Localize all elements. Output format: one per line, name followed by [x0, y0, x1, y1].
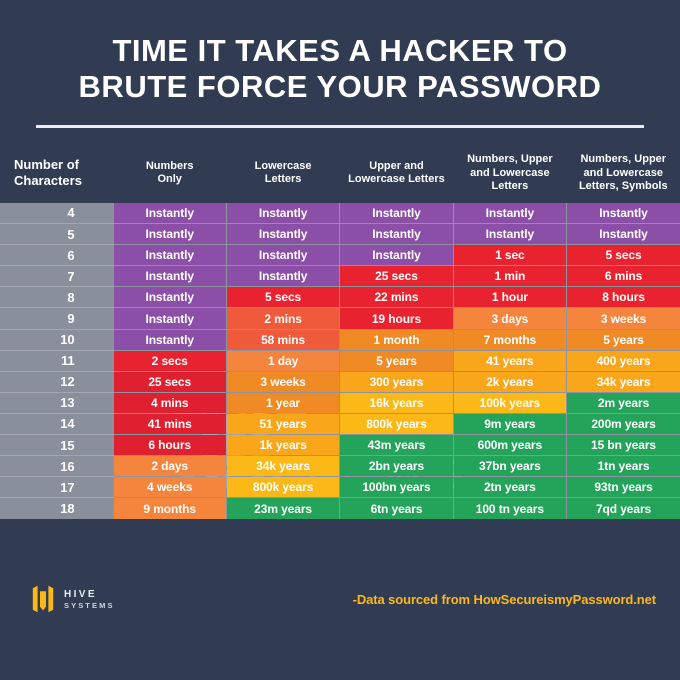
column-header-3: Upper andLowercase Letters [340, 150, 453, 203]
column-header-2: LowercaseLetters [226, 150, 339, 203]
crack-time-cell: 800k years [340, 413, 453, 434]
row-character-count: 5 [0, 224, 113, 245]
row-character-count: 14 [0, 413, 113, 434]
crack-time-cell: 2k years [453, 371, 566, 392]
column-header-5: Numbers, Upperand LowercaseLetters, Symb… [567, 150, 680, 203]
crack-time-cell: 800k years [226, 477, 339, 498]
crack-time-cell: 19 hours [340, 308, 453, 329]
crack-time-cell: 58 mins [226, 329, 339, 350]
crack-time-cell: 2 secs [113, 350, 226, 371]
table-row: 134 mins1 year16k years100k years2m year… [0, 392, 680, 413]
crack-time-cell: 1 month [340, 329, 453, 350]
logo-wordmark: HIVE SYSTEMS [64, 590, 115, 610]
row-character-count: 11 [0, 350, 113, 371]
column-header-4: Numbers, Upperand LowercaseLetters [453, 150, 566, 203]
crack-time-cell: 93tn years [567, 477, 680, 498]
crack-time-cell: 2bn years [340, 456, 453, 477]
crack-time-cell: 4 weeks [113, 477, 226, 498]
crack-time-cell: 25 secs [340, 266, 453, 287]
row-character-count: 13 [0, 392, 113, 413]
column-header-5-line-1: and Lowercase [571, 167, 676, 181]
infographic-root: HIVE SYSTEMS TIME IT TAKES A HACKER TO B… [0, 0, 680, 680]
crack-time-cell: 1 sec [453, 245, 566, 266]
page-title-line-1: TIME IT TAKES A HACKER TO [30, 33, 650, 69]
crack-time-cell: 3 days [453, 308, 566, 329]
crack-time-cell: Instantly [113, 224, 226, 245]
row-character-count: 15 [0, 435, 113, 456]
hive-logo-icon [30, 584, 56, 614]
crack-time-cell: 9 months [113, 498, 226, 519]
crack-time-cell: 37bn years [453, 456, 566, 477]
table-row: 1225 secs3 weeks300 years2k years34k yea… [0, 371, 680, 392]
logo-subtitle: SYSTEMS [64, 602, 115, 610]
crack-time-cell: 300 years [340, 371, 453, 392]
crack-time-cell: Instantly [453, 224, 566, 245]
crack-time-cell: 1tn years [567, 456, 680, 477]
column-header-5-line-0: Numbers, Upper [571, 153, 676, 167]
row-character-count: 18 [0, 498, 113, 519]
crack-time-cell: 1 year [226, 392, 339, 413]
crack-time-cell: 8 hours [567, 287, 680, 308]
crack-time-cell: 7 months [453, 329, 566, 350]
row-character-count: 9 [0, 308, 113, 329]
crack-time-cell: 34k years [567, 371, 680, 392]
table-row: 5InstantlyInstantlyInstantlyInstantlyIns… [0, 224, 680, 245]
crack-time-cell: Instantly [113, 203, 226, 224]
crack-time-cell: 3 weeks [226, 371, 339, 392]
crack-time-cell: 25 secs [113, 371, 226, 392]
table-row: 1441 mins51 years800k years9m years200m … [0, 413, 680, 434]
crack-time-cell: 1 hour [453, 287, 566, 308]
table-row: 112 secs1 day5 years41 years400 years [0, 350, 680, 371]
password-strength-table-wrap: Number ofCharactersNumbersOnlyLowercaseL… [0, 150, 680, 519]
column-header-2-line-0: Lowercase [230, 160, 335, 174]
crack-time-cell: 41 mins [113, 413, 226, 434]
crack-time-cell: Instantly [567, 203, 680, 224]
crack-time-cell: 1 min [453, 266, 566, 287]
crack-time-cell: Instantly [226, 266, 339, 287]
table-row: 10Instantly58 mins1 month7 months5 years [0, 329, 680, 350]
table-row: 189 months23m years6tn years100 tn years… [0, 498, 680, 519]
crack-time-cell: 200m years [567, 413, 680, 434]
crack-time-cell: 5 years [340, 350, 453, 371]
crack-time-cell: 16k years [340, 392, 453, 413]
crack-time-cell: 2m years [567, 392, 680, 413]
row-character-count: 4 [0, 203, 113, 224]
page-title-line-2: BRUTE FORCE YOUR PASSWORD [30, 69, 650, 105]
crack-time-cell: 1k years [226, 435, 339, 456]
table-row: 7InstantlyInstantly25 secs1 min6 mins [0, 266, 680, 287]
row-character-count: 17 [0, 477, 113, 498]
column-header-3-line-0: Upper and [344, 160, 449, 174]
column-header-0-line-1: Characters [14, 173, 109, 189]
crack-time-cell: 15 bn years [567, 435, 680, 456]
crack-time-cell: 2tn years [453, 477, 566, 498]
column-header-0-line-0: Number of [14, 157, 109, 173]
column-header-1-line-1: Only [117, 173, 222, 187]
row-character-count: 7 [0, 266, 113, 287]
row-character-count: 8 [0, 287, 113, 308]
crack-time-cell: Instantly [226, 203, 339, 224]
crack-time-cell: 400 years [567, 350, 680, 371]
crack-time-cell: 5 years [567, 329, 680, 350]
crack-time-cell: 100k years [453, 392, 566, 413]
table-row: 162 days34k years2bn years37bn years1tn … [0, 456, 680, 477]
crack-time-cell: 51 years [226, 413, 339, 434]
data-source-note: -Data sourced from HowSecureismyPassword… [353, 592, 656, 607]
column-header-1-line-0: Numbers [117, 160, 222, 174]
crack-time-cell: 22 mins [340, 287, 453, 308]
crack-time-cell: 3 weeks [567, 308, 680, 329]
crack-time-cell: Instantly [340, 224, 453, 245]
footer: HIVE SYSTEMS -Data sourced from HowSecur… [0, 519, 680, 680]
table-row: 4InstantlyInstantlyInstantlyInstantlyIns… [0, 203, 680, 224]
table-body: 4InstantlyInstantlyInstantlyInstantlyIns… [0, 203, 680, 519]
crack-time-cell: Instantly [113, 245, 226, 266]
crack-time-cell: 1 day [226, 350, 339, 371]
crack-time-cell: 100 tn years [453, 498, 566, 519]
table-row: 174 weeks800k years100bn years2tn years9… [0, 477, 680, 498]
column-header-4-line-2: Letters [457, 180, 562, 194]
table-row: 156 hours1k years43m years600m years15 b… [0, 435, 680, 456]
column-header-4-line-1: and Lowercase [457, 167, 562, 181]
crack-time-cell: Instantly [340, 245, 453, 266]
crack-time-cell: Instantly [226, 245, 339, 266]
table-row: 8Instantly5 secs22 mins1 hour8 hours [0, 287, 680, 308]
crack-time-cell: 9m years [453, 413, 566, 434]
crack-time-cell: Instantly [567, 224, 680, 245]
crack-time-cell: 43m years [340, 435, 453, 456]
column-header-2-line-1: Letters [230, 173, 335, 187]
title-divider-wrap [0, 105, 680, 128]
column-header-4-line-0: Numbers, Upper [457, 153, 562, 167]
crack-time-cell: 2 days [113, 456, 226, 477]
crack-time-cell: 100bn years [340, 477, 453, 498]
table-header: Number ofCharactersNumbersOnlyLowercaseL… [0, 150, 680, 203]
table-row: 9Instantly2 mins19 hours3 days3 weeks [0, 308, 680, 329]
column-header-0: Number ofCharacters [0, 150, 113, 203]
row-character-count: 16 [0, 456, 113, 477]
hive-systems-logo[interactable]: HIVE SYSTEMS [30, 584, 115, 614]
column-header-3-line-1: Lowercase Letters [344, 173, 449, 187]
table-row: 6InstantlyInstantlyInstantly1 sec5 secs [0, 245, 680, 266]
crack-time-cell: Instantly [226, 224, 339, 245]
crack-time-cell: Instantly [453, 203, 566, 224]
crack-time-cell: Instantly [113, 329, 226, 350]
title-divider [36, 125, 644, 128]
logo-name: HIVE [64, 590, 115, 600]
crack-time-cell: 7qd years [567, 498, 680, 519]
crack-time-cell: 600m years [453, 435, 566, 456]
crack-time-cell: Instantly [113, 287, 226, 308]
row-character-count: 12 [0, 371, 113, 392]
crack-time-cell: 34k years [226, 456, 339, 477]
crack-time-cell: 4 mins [113, 392, 226, 413]
page-title: TIME IT TAKES A HACKER TO BRUTE FORCE YO… [0, 0, 680, 105]
crack-time-cell: 2 mins [226, 308, 339, 329]
crack-time-cell: 23m years [226, 498, 339, 519]
row-character-count: 6 [0, 245, 113, 266]
crack-time-cell: 6 mins [567, 266, 680, 287]
crack-time-cell: 6 hours [113, 435, 226, 456]
column-header-5-line-2: Letters, Symbols [571, 180, 676, 194]
crack-time-cell: 6tn years [340, 498, 453, 519]
row-character-count: 10 [0, 329, 113, 350]
crack-time-cell: Instantly [340, 203, 453, 224]
crack-time-cell: Instantly [113, 308, 226, 329]
crack-time-cell: 5 secs [226, 287, 339, 308]
column-header-1: NumbersOnly [113, 150, 226, 203]
password-strength-table: Number ofCharactersNumbersOnlyLowercaseL… [0, 150, 680, 519]
crack-time-cell: Instantly [113, 266, 226, 287]
crack-time-cell: 41 years [453, 350, 566, 371]
crack-time-cell: 5 secs [567, 245, 680, 266]
table-header-row: Number ofCharactersNumbersOnlyLowercaseL… [0, 150, 680, 203]
